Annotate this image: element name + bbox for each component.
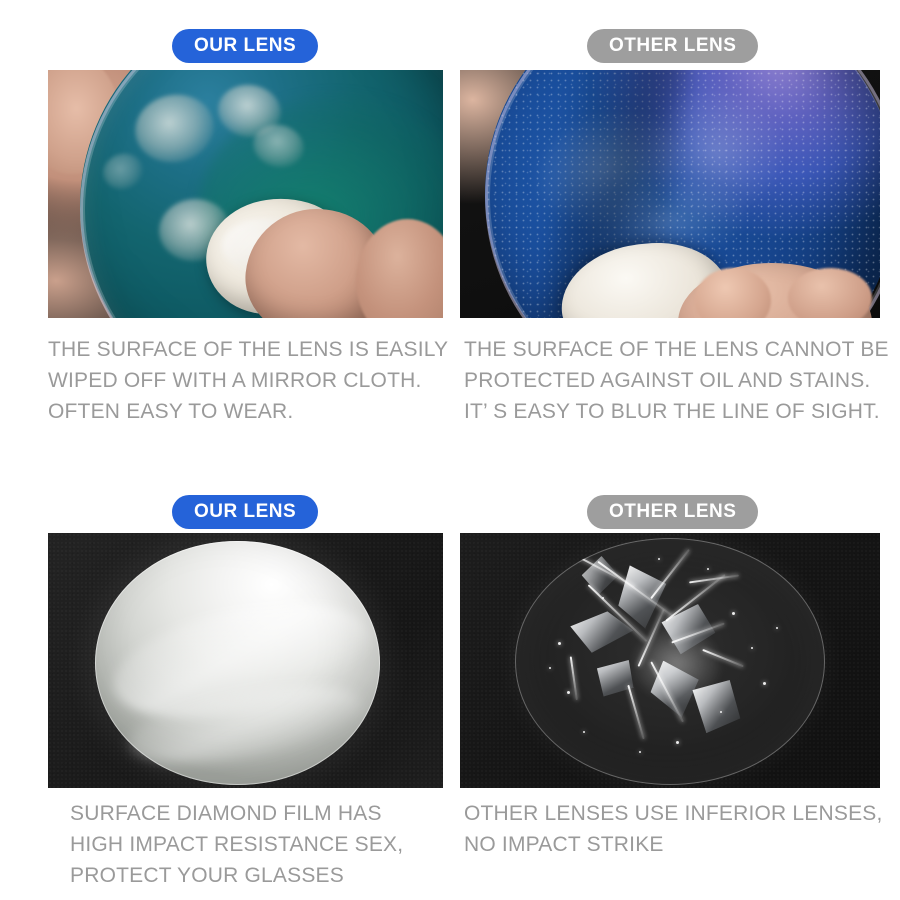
badge-our-lens-bottom: OUR LENS [172, 495, 318, 529]
comparison-infographic: OUR LENS THE SURFACE OF THE LENS IS EASI… [0, 0, 900, 900]
caption-other-lens-top: THE SURFACE OF THE LENS CANNOT BE PROTEC… [464, 334, 894, 427]
glass-particle [751, 647, 753, 649]
glass-particle [658, 558, 660, 560]
badge-our-lens-top: OUR LENS [172, 29, 318, 63]
photo-other-lens-shattered [460, 533, 880, 788]
glass-particle [776, 627, 778, 629]
glass-particle [732, 612, 735, 615]
photo-our-lens-wiped-clean [48, 70, 443, 318]
glass-particle [567, 691, 570, 694]
glass-shard [569, 609, 635, 655]
shattered-lens-disc [515, 538, 826, 785]
glass-particle [639, 751, 641, 753]
glass-sliver [650, 549, 690, 599]
glass-particle [549, 667, 551, 669]
caption-our-lens-bottom: SURFACE DIAMOND FILM HAS HIGH IMPACT RES… [70, 798, 470, 891]
badge-other-lens-bottom: OTHER LENS [587, 495, 758, 529]
glass-particle [707, 568, 709, 570]
photo-our-lens-intact [48, 533, 443, 788]
glass-particle [558, 642, 561, 645]
caption-our-lens-top: THE SURFACE OF THE LENS IS EASILY WIPED … [48, 334, 458, 427]
finger [788, 268, 872, 318]
caption-other-lens-bottom: OTHER LENSES USE INFERIOR LENSES, NO IMP… [464, 798, 894, 860]
glass-particle [676, 741, 679, 744]
glass-sliver [570, 656, 578, 699]
glass-sliver [627, 685, 644, 739]
badge-other-lens-top: OTHER LENS [587, 29, 758, 63]
photo-other-lens-smeared [460, 70, 880, 318]
glass-particle [763, 682, 766, 685]
glass-particle [583, 731, 585, 733]
